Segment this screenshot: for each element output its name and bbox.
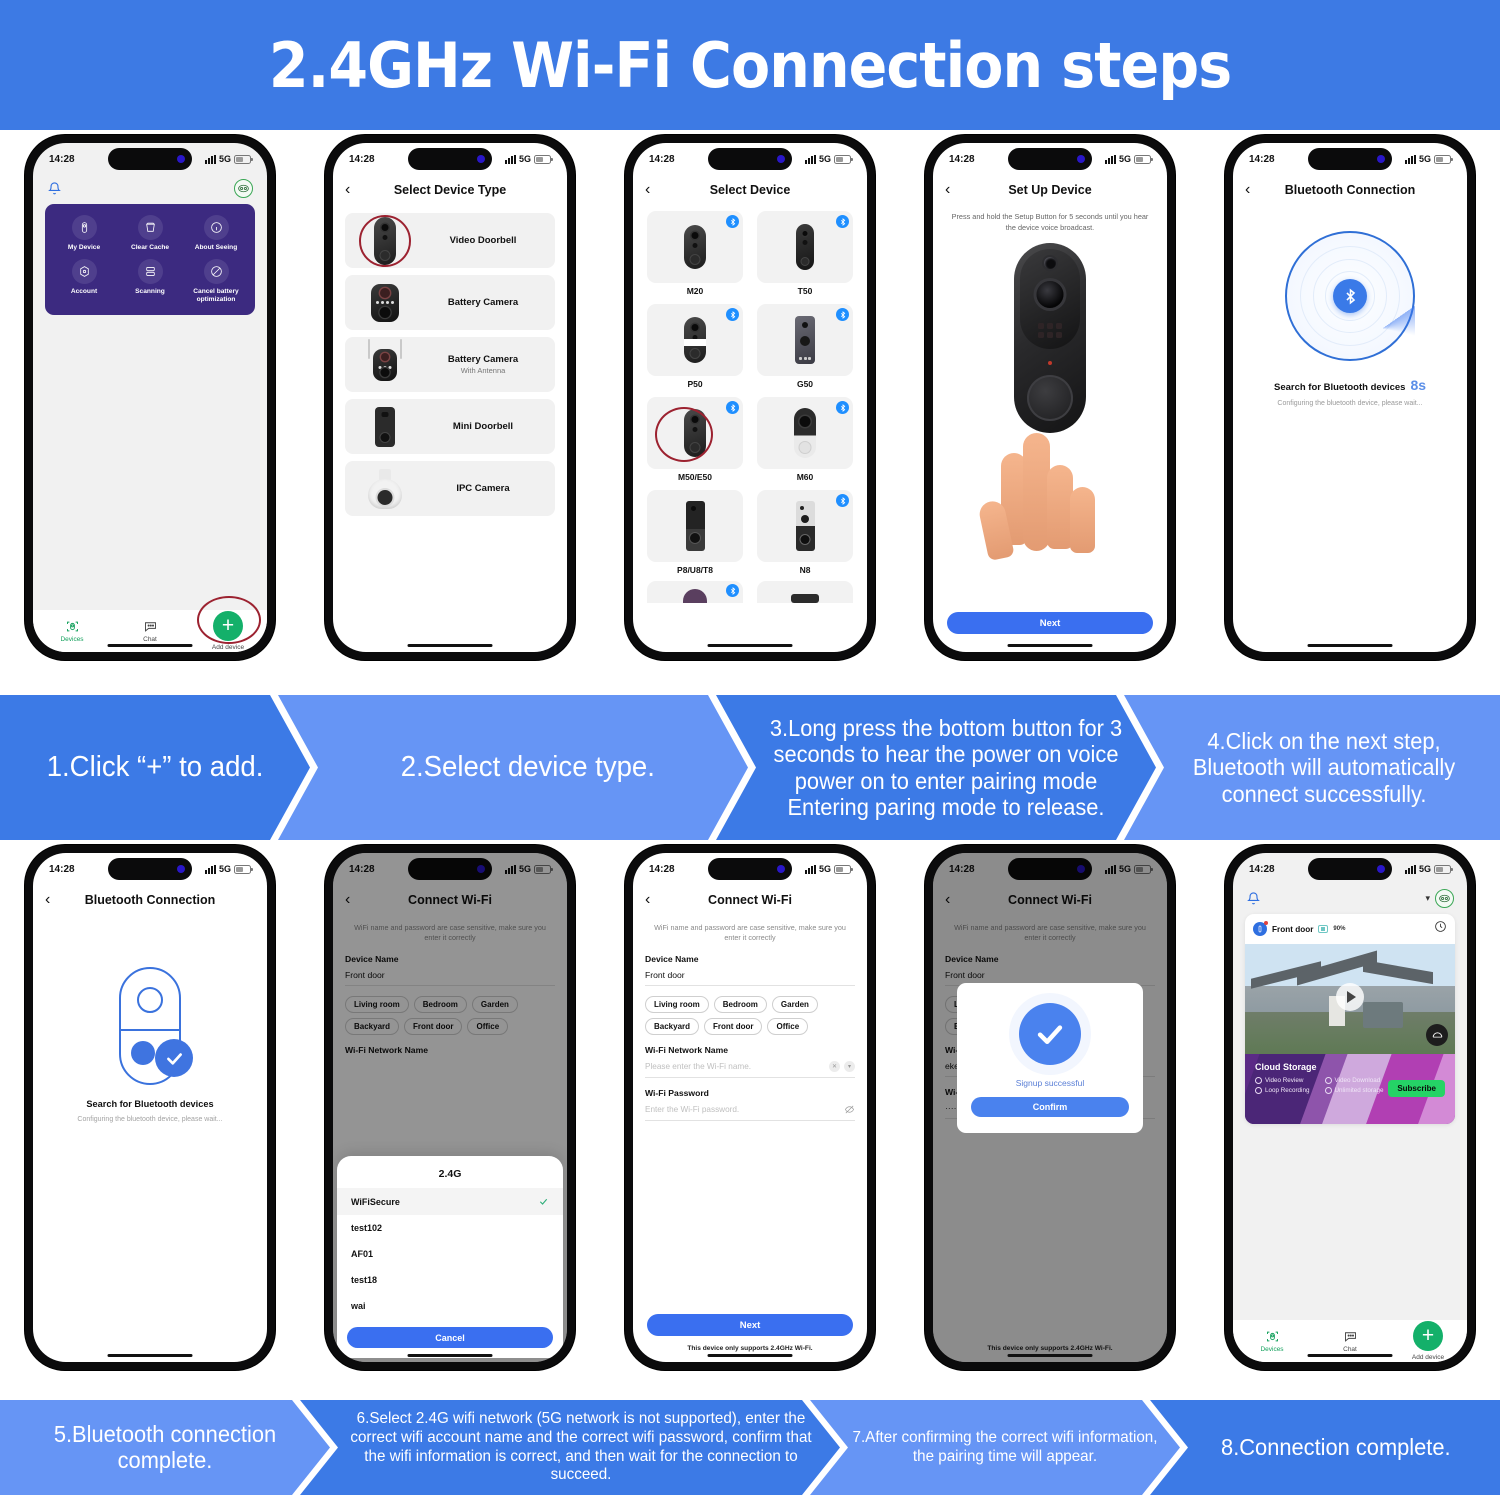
phone-cell-7: 14:28 5G ‹ Connect Wi-Fi WiFi name and p… [300, 845, 600, 1400]
wifi-name-input[interactable]: Please enter the Wi-Fi name. ✕ ▾ [645, 1061, 855, 1078]
tab-label: Devices [60, 636, 83, 643]
eye-off-icon[interactable] [844, 1104, 855, 1115]
phone-cell-5: 14:28 5G ‹ Bluetooth Connection [1200, 135, 1500, 695]
panel-item-label: Clear Cache [131, 244, 169, 252]
add-device-fab[interactable]: + [1413, 1321, 1443, 1351]
step-arrow-2: 2.Select device type. [278, 695, 748, 840]
next-button[interactable]: Next [647, 1314, 853, 1336]
feature-label: Video Review [1265, 1077, 1303, 1084]
phone-row-2: 14:28 5G ‹ Bluetooth Connection Search f… [0, 840, 1500, 1400]
feature-label: Unlimited storage [1335, 1087, 1384, 1094]
tab-label: Add device [212, 644, 244, 651]
search-sub: Configuring the bluetooth device, please… [1277, 400, 1422, 407]
wifi-option-label: test102 [351, 1223, 382, 1233]
status-bar: 14:28 5G [1233, 853, 1467, 885]
bluetooth-icon [726, 215, 739, 228]
wifi-name-placeholder: Please enter the Wi-Fi name. [645, 1062, 751, 1071]
camera-dot-icon [777, 865, 785, 873]
camera-dot-icon [1077, 155, 1085, 163]
network-label: 5G [1119, 154, 1131, 164]
battery-icon [234, 865, 251, 874]
nav-title: Connect Wi-Fi [633, 893, 867, 907]
camera-dot-icon [177, 155, 185, 163]
signal-icon [805, 865, 816, 874]
nav-title: Bluetooth Connection [33, 893, 267, 907]
settings-panel: My Device Clear Cache About Seeing Accou… [45, 204, 255, 315]
play-icon[interactable] [1336, 983, 1364, 1011]
back-icon[interactable]: ‹ [45, 892, 50, 908]
device-grid-partial [633, 581, 867, 603]
status-bar: 14:28 5G [33, 853, 267, 885]
step-text: 6.Select 2.4G wifi network (5G network i… [335, 1410, 827, 1486]
device-name: T50 [798, 286, 813, 296]
device-cell[interactable]: G50 [757, 304, 853, 389]
highlight-ring-m50-e50 [655, 407, 713, 462]
next-button[interactable]: Next [947, 612, 1153, 634]
back-icon[interactable]: ‹ [645, 892, 650, 908]
panel-item-account[interactable]: Account [51, 259, 117, 304]
battery-icon [834, 155, 851, 164]
ipc-camera-image [345, 469, 425, 509]
step-arrow-5: 5.Bluetooth connection complete. [0, 1400, 330, 1495]
avatar[interactable] [1435, 889, 1454, 908]
battery-camera-antenna-image [345, 349, 425, 381]
device-type-sub: With Antenna [425, 366, 541, 375]
home-indicator [1308, 1354, 1393, 1358]
info-icon [204, 215, 229, 240]
chat-icon [1343, 1329, 1358, 1344]
phone-cell-9: 14:28 5G ‹ Connect Wi-Fi WiFi name and p… [900, 845, 1200, 1400]
device-name: G50 [797, 379, 813, 389]
status-time: 14:28 [49, 154, 75, 165]
clear-icon[interactable]: ✕ [829, 1061, 840, 1072]
step-arrow-4: 4.Click on the next step, Bluetooth will… [1124, 695, 1500, 840]
status-time: 14:28 [1249, 154, 1275, 165]
step-text: 1.Click “+” to add. [35, 752, 274, 783]
feature-video-download: Video Download [1325, 1077, 1391, 1084]
bluetooth-icon [1333, 279, 1367, 313]
back-icon[interactable]: ‹ [345, 182, 350, 198]
step-text: 4.Click on the next step, Bluetooth will… [1157, 728, 1491, 807]
feature-loop-recording: Loop Recording [1255, 1087, 1321, 1094]
home-indicator [1308, 644, 1393, 648]
cancel-button[interactable]: Cancel [347, 1327, 553, 1348]
camera-dot-icon [1377, 155, 1385, 163]
status-time: 14:28 [949, 154, 975, 165]
home-indicator [708, 1354, 793, 1358]
check-icon [155, 1039, 193, 1077]
notch [1308, 858, 1392, 880]
phone-6-bluetooth-complete: 14:28 5G ‹ Bluetooth Connection Search f… [25, 845, 275, 1370]
battery-icon [834, 865, 851, 874]
wifi-option-label: WiFiSecure [351, 1197, 400, 1207]
bluetooth-icon [726, 308, 739, 321]
device-type-row[interactable]: Battery CameraWith Antenna [345, 337, 555, 392]
camera-icon [1265, 1329, 1280, 1344]
device-name: M50/E50 [678, 472, 712, 482]
chip-living-room[interactable]: Living room [645, 996, 709, 1013]
search-sub: Configuring the bluetooth device, please… [33, 1116, 267, 1123]
countdown-value: 8s [1410, 377, 1426, 393]
page-title: 2.4GHz Wi-Fi Connection steps [269, 29, 1231, 102]
panel-item-label: About Seeing [195, 244, 238, 252]
feature-label: Video Download [1335, 1077, 1381, 1084]
device-name: M60 [797, 472, 814, 482]
wifi-name-label: Wi-Fi Network Name [633, 1035, 867, 1055]
battery-icon [534, 155, 551, 164]
step-arrow-1: 1.Click “+” to add. [0, 695, 310, 840]
circle-icon [1325, 1087, 1332, 1094]
network-label: 5G [219, 864, 231, 874]
notch [1308, 148, 1392, 170]
phone-cell-1: 14:28 5G M [0, 135, 300, 695]
steps-banner-1: 1.Click “+” to add. 2.Select device type… [0, 695, 1500, 840]
camera-dot-icon [177, 865, 185, 873]
device-name-label: Device Name [633, 944, 867, 964]
home-indicator [408, 1354, 493, 1358]
chip-office[interactable]: Office [767, 1018, 808, 1035]
status-bar: 14:28 5G [933, 143, 1167, 175]
device-card[interactable]: Front door 90% [1245, 914, 1455, 1124]
hexagon-user-icon [72, 259, 97, 284]
nav-title: Set Up Device [933, 183, 1167, 197]
highlight-ring-add-device [197, 596, 261, 644]
device-cell[interactable]: M60 [757, 397, 853, 482]
battery-camera-image [345, 284, 425, 322]
wifi-option[interactable]: test18 [337, 1267, 563, 1293]
status-time: 14:28 [649, 154, 675, 165]
home-indicator [1008, 1354, 1093, 1358]
notch [1008, 148, 1092, 170]
tab-label: Chat [143, 636, 157, 643]
device-type-row[interactable]: IPC Camera [345, 461, 555, 516]
no-entry-icon [204, 259, 229, 284]
network-label: 5G [1419, 864, 1431, 874]
step-arrow-3: 3.Long press the bottom button for 3 sec… [716, 695, 1156, 840]
notch [408, 148, 492, 170]
status-bar: 14:28 5G [333, 143, 567, 175]
home-indicator [1008, 644, 1093, 648]
device-cell[interactable]: P8/U8/T8 [647, 490, 743, 575]
bluetooth-radar: Search for Bluetooth devices 8s Configur… [1233, 205, 1467, 407]
doorbell-icon [1253, 922, 1267, 936]
device-name-input[interactable]: Front door [645, 970, 855, 986]
status-time: 14:28 [49, 864, 75, 875]
bell-icon[interactable] [1246, 891, 1261, 906]
tab-label: Devices [1260, 1346, 1283, 1353]
page-header: 2.4GHz Wi-Fi Connection steps [0, 0, 1500, 130]
wifi-password-label: Wi-Fi Password [633, 1078, 867, 1098]
device-name: P50 [687, 379, 702, 389]
device-cell[interactable]: T50 [757, 211, 853, 296]
network-label: 5G [819, 864, 831, 874]
circle-icon [1255, 1077, 1262, 1084]
device-name: M20 [687, 286, 704, 296]
status-time: 14:28 [649, 864, 675, 875]
tab-devices[interactable]: Devices [1233, 1320, 1311, 1362]
search-status: Search for Bluetooth devices 8s [1274, 377, 1426, 393]
doorbell-illustration [1014, 243, 1086, 433]
tab-devices[interactable]: Devices [33, 610, 111, 652]
panel-item-label: Cancel battery optimization [185, 288, 247, 304]
battery-level-icon [1318, 925, 1328, 933]
signal-icon [1405, 865, 1416, 874]
device-name: P8/U8/T8 [677, 565, 713, 575]
setup-description: Press and hold the Setup Button for 5 se… [933, 205, 1167, 233]
wifi-password-input[interactable]: Enter the Wi-Fi password. [645, 1104, 855, 1121]
signal-icon [505, 155, 516, 164]
panel-item-about-seeing[interactable]: About Seeing [183, 215, 249, 252]
feature-unlimited-storage: Unlimited storage [1325, 1087, 1391, 1094]
network-label: 5G [219, 154, 231, 164]
back-icon[interactable]: ‹ [1245, 182, 1250, 198]
phone-4-set-up-device: 14:28 5G ‹ Set Up Device Press and hold … [925, 135, 1175, 660]
device-cell[interactable]: P50 [647, 304, 743, 389]
nav-bar: ‹ Select Device [633, 175, 867, 205]
device-type-name: Battery Camera [425, 297, 541, 308]
garage-shape [1363, 1002, 1403, 1028]
wifi-option[interactable]: AF01 [337, 1241, 563, 1267]
step-text: 7.After confirming the correct wifi info… [839, 1429, 1172, 1467]
back-icon[interactable]: ‹ [645, 182, 650, 198]
notch [708, 148, 792, 170]
panel-item-cancel-battery-optimization[interactable]: Cancel battery optimization [183, 259, 249, 304]
nav-title: Select Device [633, 183, 867, 197]
chat-icon [143, 619, 158, 634]
chip-bedroom[interactable]: Bedroom [714, 996, 767, 1013]
wifi-option[interactable]: test102 [337, 1215, 563, 1241]
home-indicator [708, 644, 793, 648]
wifi-picker-sheet: 2.4G WiFiSecure test102 AF01 test18 wai … [337, 1156, 563, 1358]
signal-icon [205, 865, 216, 874]
phone-1-home: 14:28 5G M [25, 135, 275, 660]
chip-garden[interactable]: Garden [772, 996, 818, 1013]
device-cell[interactable]: N8 [757, 490, 853, 575]
chevron-down-icon[interactable]: ▾ [1425, 893, 1430, 904]
bluetooth-icon [726, 401, 739, 414]
bluetooth-icon [836, 494, 849, 507]
device-cell[interactable]: M50/E50 [647, 397, 743, 482]
phone-cell-4: 14:28 5G ‹ Set Up Device Press and hold … [900, 135, 1200, 695]
device-cell[interactable]: M20 [647, 211, 743, 296]
highlight-ring-video-doorbell [359, 215, 411, 267]
wifi-option-selected[interactable]: WiFiSecure [337, 1188, 563, 1215]
subscribe-button[interactable]: Subscribe [1388, 1080, 1445, 1097]
trash-icon [138, 215, 163, 240]
step-text: 2.Select device type. [389, 752, 666, 783]
bluetooth-icon [836, 401, 849, 414]
room-chips: Living room Bedroom Garden Backyard Fron… [633, 986, 867, 1035]
status-bar: 14:28 5G [33, 143, 267, 175]
mini-doorbell-image [345, 407, 425, 447]
confirm-button[interactable]: Confirm [971, 1097, 1129, 1117]
phone-10-device-list: 14:28 5G ▾ Front door [1225, 845, 1475, 1370]
phone-cell-2: 14:28 5G ‹ Select Device Type Video Door… [300, 135, 600, 695]
phone-cell-10: 14:28 5G ▾ Front door [1200, 845, 1500, 1400]
panel-item-scanning[interactable]: Scanning [117, 259, 183, 304]
hand-icon [975, 410, 1125, 545]
check-icon [538, 1196, 549, 1207]
signal-icon [1105, 155, 1116, 164]
avatar[interactable] [234, 179, 253, 198]
device-connected-illustration [105, 967, 195, 1085]
tab-label: Add device [1412, 1354, 1444, 1361]
panel-item-label: My Device [68, 244, 100, 252]
device-type-name: Battery Camera [425, 354, 541, 365]
tab-label: Chat [1343, 1346, 1357, 1353]
nav-bar: ‹ Select Device Type [333, 175, 567, 205]
camera-dot-icon [477, 155, 485, 163]
status-time: 14:28 [1249, 864, 1275, 875]
wifi-option[interactable]: wai [337, 1293, 563, 1319]
scan-icon [138, 259, 163, 284]
battery-icon [1434, 865, 1451, 874]
wifi-note: WiFi name and password are case sensitiv… [633, 915, 867, 944]
steps-banner-2: 5.Bluetooth connection complete. 6.Selec… [0, 1400, 1500, 1495]
device-grid: M20 T50 P50 G50 M50/E50 M60 P8/U8/T8 N8 [633, 205, 867, 581]
wifi-option-label: AF01 [351, 1249, 373, 1259]
cloud-storage-banner[interactable]: Cloud Storage Video Review Video Downloa… [1245, 1054, 1455, 1124]
chevron-down-icon[interactable]: ▾ [844, 1061, 855, 1072]
nav-bar: ‹ Set Up Device [933, 175, 1167, 205]
doorbell-icon [72, 215, 97, 240]
wifi-password-placeholder: Enter the Wi-Fi password. [645, 1105, 739, 1114]
wifi-option-label: test18 [351, 1275, 377, 1285]
circle-icon [1255, 1087, 1262, 1094]
network-label: 5G [1419, 154, 1431, 164]
camera-dot-icon [777, 155, 785, 163]
bluetooth-icon [836, 308, 849, 321]
signup-success-dialog: Signup successful Confirm [957, 983, 1143, 1133]
signal-icon [805, 155, 816, 164]
notch [108, 858, 192, 880]
phone-7-wifi-picker: 14:28 5G ‹ Connect Wi-Fi WiFi name and p… [325, 845, 575, 1370]
device-type-name: Video Doorbell [425, 235, 541, 246]
home-indicator [408, 644, 493, 648]
phone-cell-3: 14:28 5G ‹ Select Device M20 T50 P50 G50… [600, 135, 900, 695]
search-label: Search for Bluetooth devices [33, 1099, 267, 1109]
status-time: 14:28 [349, 154, 375, 165]
home-indicator [108, 1354, 193, 1358]
panel-item-my-device[interactable]: My Device [51, 215, 117, 252]
ptz-control-icon[interactable] [1426, 1024, 1448, 1046]
circle-icon [1325, 1077, 1332, 1084]
device-type-row[interactable]: Mini Doorbell [345, 399, 555, 454]
panel-item-label: Account [71, 288, 97, 296]
phone-2-select-device-type: 14:28 5G ‹ Select Device Type Video Door… [325, 135, 575, 660]
step-arrow-6: 6.Select 2.4G wifi network (5G network i… [300, 1400, 840, 1495]
camera-dot-icon [1377, 865, 1385, 873]
step-arrow-8: 8.Connection complete. [1150, 1400, 1500, 1495]
device-name: N8 [800, 565, 811, 575]
home-indicator [108, 644, 193, 648]
network-label: 5G [519, 154, 531, 164]
wifi-option-label: wai [351, 1301, 366, 1311]
battery-icon [1434, 155, 1451, 164]
camera-icon [65, 619, 80, 634]
wifi-footer-note: This device only supports 2.4GHz Wi-Fi. [633, 1345, 867, 1352]
sheet-title: 2.4G [337, 1164, 563, 1188]
phone-cell-6: 14:28 5G ‹ Bluetooth Connection Search f… [0, 845, 300, 1400]
camera-thumbnail[interactable] [1245, 944, 1455, 1054]
feature-label: Loop Recording [1265, 1087, 1309, 1094]
network-label: 5G [819, 154, 831, 164]
status-bar: 14:28 5G [1233, 143, 1467, 175]
bell-icon[interactable] [47, 181, 62, 196]
chip-front-door[interactable]: Front door [704, 1018, 762, 1035]
bluetooth-icon [836, 215, 849, 228]
signal-icon [205, 155, 216, 164]
battery-icon [1134, 155, 1151, 164]
battery-icon [234, 155, 251, 164]
notch [708, 858, 792, 880]
device-type-row[interactable]: Battery Camera [345, 275, 555, 330]
step-text: 8.Connection complete. [1210, 1435, 1462, 1461]
panel-item-label: Scanning [135, 288, 165, 296]
back-icon[interactable]: ‹ [945, 182, 950, 198]
step-arrow-7: 7.After confirming the correct wifi info… [810, 1400, 1180, 1495]
bluetooth-icon [726, 584, 739, 597]
history-icon[interactable] [1434, 920, 1447, 938]
dialog-message: Signup successful [1016, 1078, 1085, 1088]
device-type-list: Video Doorbell Battery Camera Battery Ca… [333, 205, 567, 524]
battery-percent: 90% [1333, 926, 1345, 932]
cloud-storage-title: Cloud Storage [1255, 1062, 1445, 1072]
feature-video-review: Video Review [1255, 1077, 1321, 1084]
phone-3-select-device: 14:28 5G ‹ Select Device M20 T50 P50 G50… [625, 135, 875, 660]
step-text: 3.Long press the bottom button for 3 sec… [747, 715, 1146, 821]
phone-8-wifi-form: 14:28 5G ‹ Connect Wi-Fi WiFi name and p… [625, 845, 875, 1370]
status-bar: 14:28 5G [633, 143, 867, 175]
nav-title: Bluetooth Connection [1233, 183, 1467, 197]
device-type-name: IPC Camera [425, 483, 541, 494]
device-type-row[interactable]: Video Doorbell [345, 213, 555, 268]
notch [108, 148, 192, 170]
search-label: Search for Bluetooth devices [1274, 382, 1405, 393]
phone-9-signup-success: 14:28 5G ‹ Connect Wi-Fi WiFi name and p… [925, 845, 1175, 1370]
nav-bar: ‹ Bluetooth Connection [1233, 175, 1467, 205]
device-type-name: Mini Doorbell [425, 421, 541, 432]
phone-cell-8: 14:28 5G ‹ Connect Wi-Fi WiFi name and p… [600, 845, 900, 1400]
tab-add-device[interactable]: + Add device [1389, 1320, 1467, 1362]
status-bar: 14:28 5G [633, 853, 867, 885]
nav-bar: ‹ Bluetooth Connection [33, 885, 267, 915]
device-label: Front door [1272, 925, 1313, 934]
phone-row-1: 14:28 5G M [0, 130, 1500, 695]
chip-backyard[interactable]: Backyard [645, 1018, 699, 1035]
signal-icon [1405, 155, 1416, 164]
check-icon [1019, 1003, 1081, 1065]
panel-item-clear-cache[interactable]: Clear Cache [117, 215, 183, 252]
nav-bar: ‹ Connect Wi-Fi [633, 885, 867, 915]
nav-title: Select Device Type [333, 183, 567, 197]
phone-5-bluetooth-searching: 14:28 5G ‹ Bluetooth Connection [1225, 135, 1475, 660]
step-text: 5.Bluetooth connection complete. [8, 1422, 322, 1474]
